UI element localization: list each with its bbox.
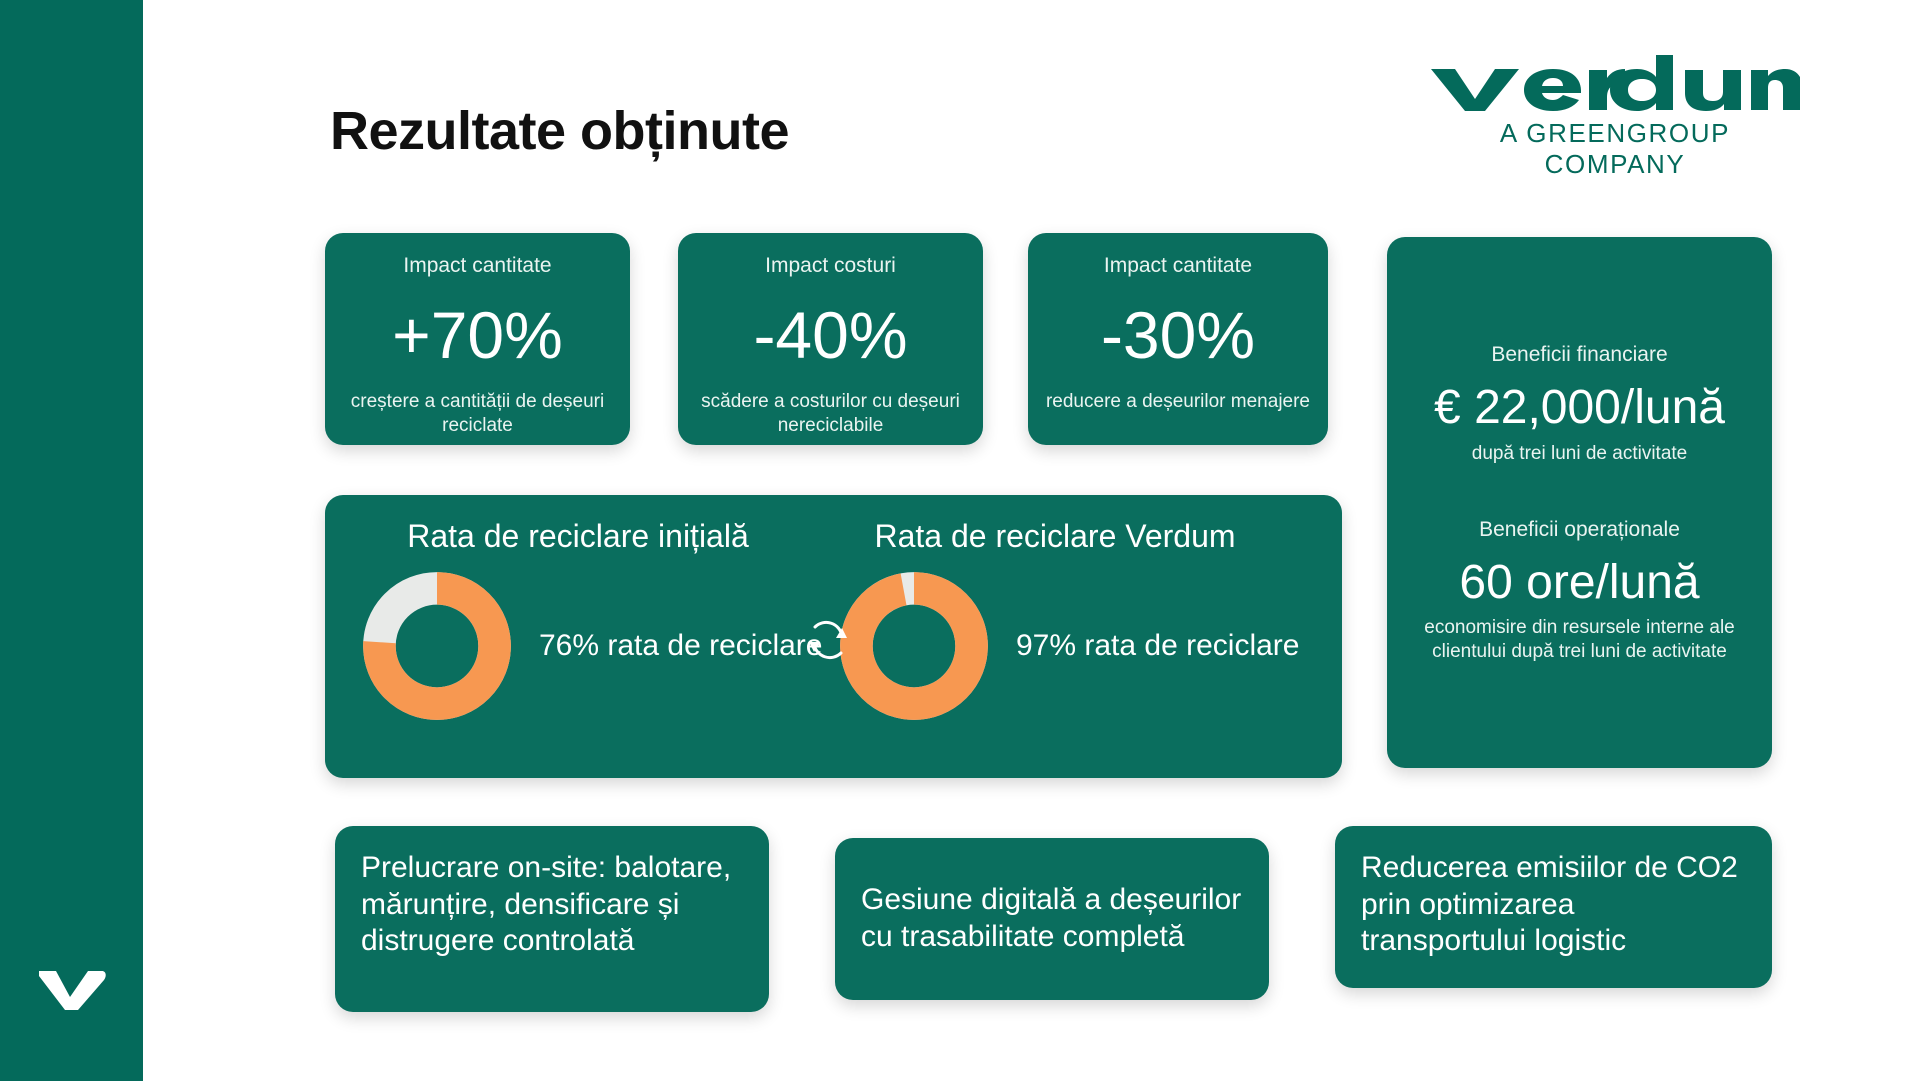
benefit-description: economisire din resursele interne ale cl…	[1403, 616, 1756, 662]
benefit-label: Beneficii financiare	[1403, 342, 1756, 367]
donut-title: Rata de reciclare Verdum	[820, 519, 1290, 554]
kpi-value: +70%	[392, 302, 563, 368]
benefit-description: după trei luni de activitate	[1403, 442, 1756, 465]
kpi-description: reducere a deșeurilor menajere	[1046, 390, 1310, 414]
donut-chart-verdum	[838, 570, 990, 722]
feature-card: Prelucrare on-site: balotare, mărunțire,…	[335, 826, 769, 1012]
donut-caption: 76% rata de reciclare	[539, 627, 822, 665]
kpi-label: Impact costuri	[765, 253, 896, 278]
donut-chart-initial	[361, 570, 513, 722]
donut-caption: 97% rata de reciclare	[1016, 627, 1299, 665]
kpi-description: creștere a cantității de deșeuri recicla…	[339, 390, 616, 438]
feature-text: Prelucrare on-site: balotare, mărunțire,…	[361, 850, 743, 960]
benefit-label: Beneficii operaționale	[1403, 517, 1756, 542]
kpi-card: Impact cantitate +70% creștere a cantită…	[325, 233, 630, 445]
feature-text: Gesiune digitală a deșeurilor cu trasabi…	[861, 882, 1243, 955]
kpi-description: scădere a costurilor cu deșeuri nerecicl…	[692, 390, 969, 438]
benefit-block-operational: Beneficii operaționale 60 ore/lună econo…	[1403, 517, 1756, 663]
kpi-value: -40%	[753, 302, 907, 368]
page-title: Rezultate obținute	[330, 100, 789, 162]
feature-card: Gesiune digitală a deșeurilor cu trasabi…	[835, 838, 1269, 1000]
benefits-panel: Beneficii financiare € 22,000/lună după …	[1387, 237, 1772, 768]
brand-logo: A GREENGROUP COMPANY	[1429, 55, 1801, 180]
sync-arrows-icon	[800, 612, 856, 668]
brand-tagline: A GREENGROUP COMPANY	[1429, 118, 1801, 180]
feature-card: Reducerea emisiilor de CO2 prin optimiza…	[1335, 826, 1772, 988]
benefit-value: 60 ore/lună	[1403, 558, 1756, 608]
kpi-value: -30%	[1101, 302, 1255, 368]
donut-group-initial: Rata de reciclare inițială 76% rata de r…	[343, 519, 813, 754]
feature-text: Reducerea emisiilor de CO2 prin optimiza…	[1361, 850, 1746, 960]
sidebar-rail	[0, 0, 143, 1081]
benefit-block-financial: Beneficii financiare € 22,000/lună după …	[1403, 342, 1756, 465]
verdum-wordmark-icon	[1429, 55, 1801, 111]
kpi-label: Impact cantitate	[1104, 253, 1252, 278]
verdum-v-mark-icon	[36, 967, 108, 1013]
donut-group-verdum: Rata de reciclare Verdum 97% rata de rec…	[820, 519, 1290, 754]
kpi-card: Impact cantitate -30% reducere a deșeuri…	[1028, 233, 1328, 445]
kpi-card: Impact costuri -40% scădere a costurilor…	[678, 233, 983, 445]
benefit-value: € 22,000/lună	[1403, 383, 1756, 433]
donut-title: Rata de reciclare inițială	[343, 519, 813, 554]
kpi-label: Impact cantitate	[403, 253, 551, 278]
